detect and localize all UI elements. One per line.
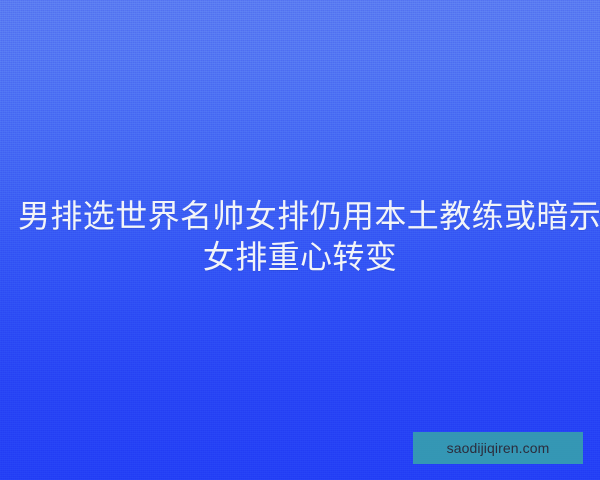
watermark-badge: saodijiqiren.com — [413, 432, 583, 464]
headline-line-2: 女排重心转变 — [18, 237, 582, 278]
headline-line-1: 男排选世界名帅女排仍用本土教练或暗示 — [18, 196, 582, 237]
watermark-text: saodijiqiren.com — [447, 441, 550, 455]
title-card: 男排选世界名帅女排仍用本土教练或暗示 女排重心转变 saodijiqiren.c… — [0, 0, 600, 480]
page-title: 男排选世界名帅女排仍用本土教练或暗示 女排重心转变 — [0, 196, 600, 278]
